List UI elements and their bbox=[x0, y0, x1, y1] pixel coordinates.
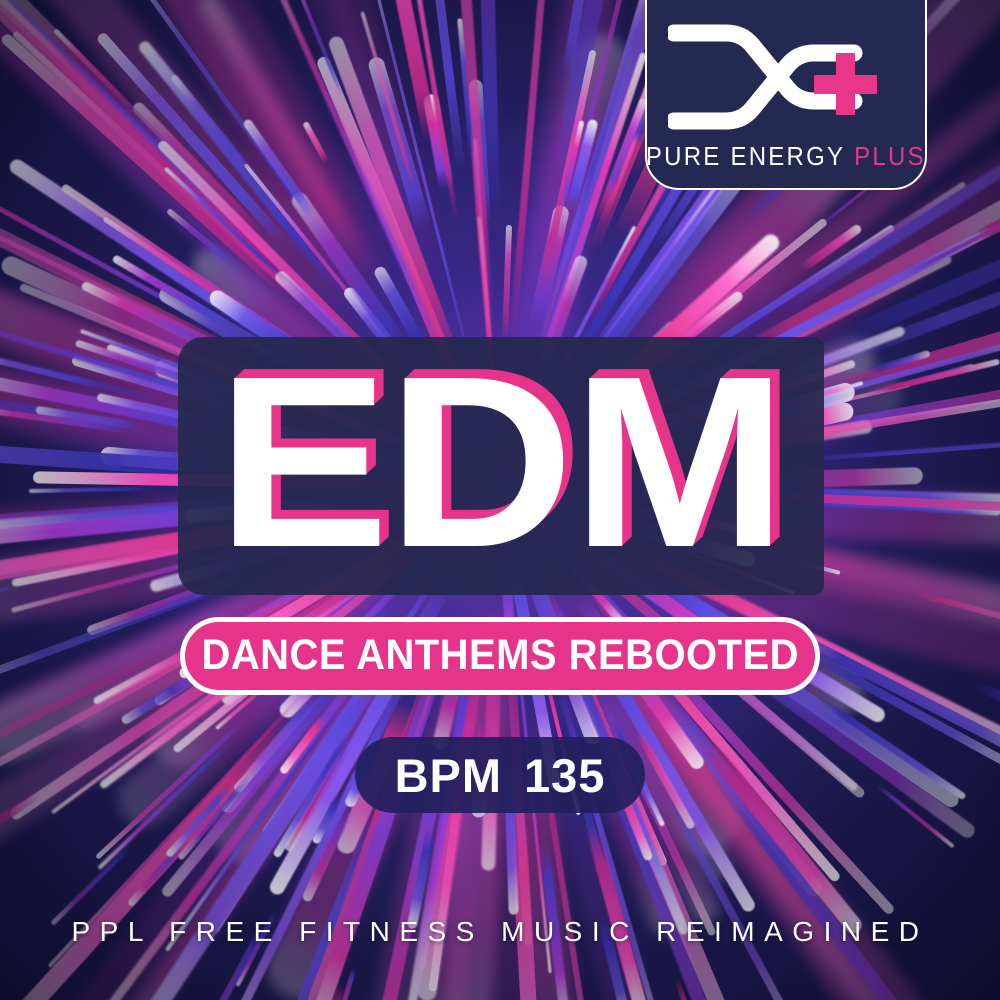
x-plus-logo-icon bbox=[668, 21, 904, 133]
page-title: EDM bbox=[159, 333, 844, 591]
bpm-text: BPM135 bbox=[395, 748, 606, 803]
logo-text-accent: PLUS bbox=[854, 143, 926, 171]
logo-wordmark: PURE ENERGY PLUS bbox=[646, 143, 926, 172]
pure-energy-plus-logo-badge[interactable]: PURE ENERGY PLUS bbox=[645, 0, 927, 190]
bpm-badge: BPM135 bbox=[355, 737, 645, 813]
album-cover: PURE ENERGY PLUS EDM DANCE ANTHEMS REBOO… bbox=[0, 0, 1000, 1000]
logo-text-primary: PURE ENERGY bbox=[646, 143, 845, 171]
bpm-value: 135 bbox=[524, 749, 605, 802]
subtitle-text: DANCE ANTHEMS REBOOTED bbox=[201, 631, 799, 680]
subtitle-pill: DANCE ANTHEMS REBOOTED bbox=[180, 617, 820, 695]
bpm-label: BPM bbox=[395, 749, 502, 802]
tagline: PPL FREE FITNESS MUSIC REIMAGINED bbox=[0, 916, 1000, 948]
title-block: EDM bbox=[178, 337, 824, 595]
